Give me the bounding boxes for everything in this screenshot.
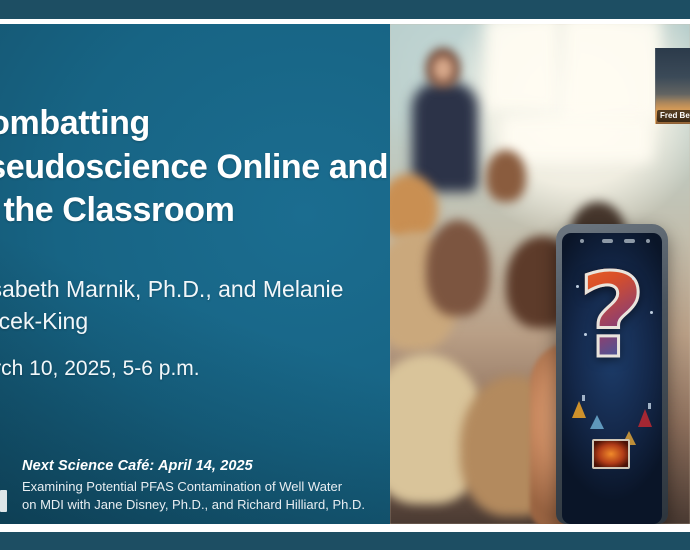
teacher-face <box>432 56 454 82</box>
flask-neck <box>582 395 585 401</box>
organization-logo-icon <box>0 462 11 516</box>
flask-icon <box>572 401 586 418</box>
flask-neck <box>648 403 651 409</box>
flask-icon <box>638 409 652 427</box>
smartphone: ? <box>556 224 668 524</box>
science-node <box>576 285 579 288</box>
science-node <box>584 333 587 336</box>
slide-photo: ? <box>390 24 690 524</box>
classroom-window-pane <box>486 24 558 110</box>
next-event-text: Next Science Café: April 14, 2025 Examin… <box>22 456 387 515</box>
teacher-silhouette <box>412 82 478 192</box>
science-node <box>650 311 653 314</box>
student-head <box>486 150 526 202</box>
page-title: Combatting Pseudoscience Online and in t… <box>0 102 395 233</box>
next-event-heading: Next Science Café: April 14, 2025 <box>22 456 387 478</box>
next-event-line-2: on MDI with Jane Disney, Ph.D., and Rich… <box>22 496 387 514</box>
participant-video-tile[interactable]: Fred Bev <box>655 48 690 124</box>
slide-speakers: Elisabeth Marnik, Ph.D., and Melanie Tre… <box>0 274 395 337</box>
student-head <box>426 220 490 316</box>
flask-icon <box>590 415 604 429</box>
slide-datetime: March 10, 2025, 5-6 p.m. <box>0 357 395 381</box>
logo-bar-light <box>0 490 7 512</box>
phone-screen: ? <box>562 233 662 524</box>
question-mark-graphic: ? <box>562 259 662 375</box>
slide-text-panel: Combatting Pseudoscience Online and in t… <box>0 24 390 524</box>
science-node <box>632 277 635 280</box>
phone-sensor-dot <box>580 239 584 243</box>
phone-earpiece <box>602 239 613 243</box>
shared-slide[interactable]: Combatting Pseudoscience Online and in t… <box>0 24 690 524</box>
next-event-block: Next Science Café: April 14, 2025 Examin… <box>0 456 390 524</box>
meeting-screenshare-screen: Combatting Pseudoscience Online and in t… <box>0 0 690 550</box>
classroom-window-pane <box>564 24 660 122</box>
participant-name-label: Fred Bev <box>657 110 690 122</box>
phone-speaker <box>624 239 635 243</box>
phone-camera-dot <box>646 239 650 243</box>
next-event-line-1: Examining Potential PFAS Contamination o… <box>22 478 387 496</box>
classroom-window-sill <box>502 116 652 162</box>
window-top-bar <box>0 0 690 19</box>
science-picture-frame <box>592 439 630 469</box>
window-bottom-bar <box>0 532 690 550</box>
